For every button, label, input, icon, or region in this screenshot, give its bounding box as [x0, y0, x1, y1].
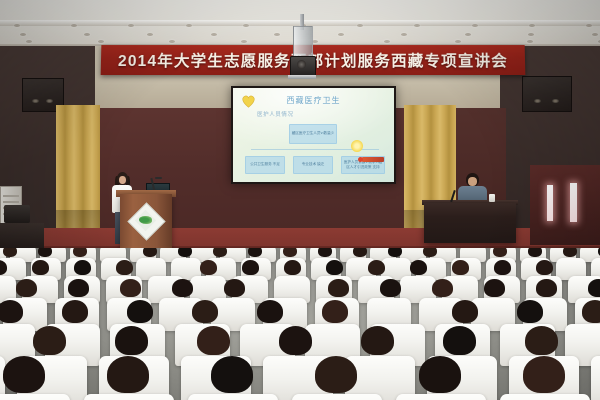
audience-person: [494, 260, 511, 275]
slide-highlight-dot: [358, 157, 363, 162]
audience-person: [38, 248, 52, 257]
audience-person: [74, 260, 91, 275]
ceiling-spotlight: [241, 40, 247, 43]
ceiling-spotlight: [169, 40, 175, 43]
audience-person: [172, 279, 193, 297]
ceiling-spotlight: [527, 40, 533, 43]
audience-person: [127, 300, 153, 323]
audience-person: [423, 248, 437, 257]
audience-person: [388, 248, 402, 257]
audience-person: [32, 260, 49, 275]
audience-person: [368, 260, 385, 275]
audience-person: [248, 248, 262, 257]
ceiling-spotlight: [592, 33, 598, 36]
audience-person: [68, 279, 89, 297]
audience-person: [120, 279, 141, 297]
slide-subtitle: 医护人员情况: [257, 110, 294, 118]
sun-icon: [351, 140, 363, 152]
ceiling-spotlight: [26, 40, 32, 43]
audience-area: [0, 248, 600, 400]
ceiling-spotlight: [529, 24, 535, 27]
audience-person: [452, 300, 478, 323]
audience-person: [107, 356, 149, 393]
audience-person: [380, 279, 401, 297]
projector-lens: [297, 60, 306, 69]
wall-light-strip-2: [570, 183, 577, 222]
audience-person: [192, 300, 218, 323]
audience-person: [284, 260, 301, 275]
audience-person: [582, 300, 600, 323]
audience-person: [322, 300, 348, 323]
audience-person: [410, 260, 427, 275]
auditorium-photo: 2014年大学生志愿服务西部计划服务西藏专项宣讲会 西藏医疗卫生 医护人员情况 …: [0, 0, 600, 400]
ceiling-spotlight: [98, 40, 104, 43]
seated-person-face: [468, 177, 477, 186]
audience-person: [3, 356, 45, 393]
projection-screen-frame: 西藏医疗卫生 医护人员情况 藏区医疗卫生人员\n数量少 公共卫生服务 不足 专业…: [231, 86, 396, 184]
slide-box-1: 公共卫生服务 不足: [245, 156, 285, 174]
audience-person: [178, 248, 192, 257]
audience-person: [517, 300, 543, 323]
ceiling-spotlight: [186, 24, 192, 27]
ceiling-spotlight: [465, 33, 471, 36]
audience-person: [419, 356, 461, 393]
audience-person: [257, 300, 283, 323]
audience-chair: [292, 394, 382, 400]
audience-person: [315, 356, 357, 393]
wall-light-strip-1: [547, 185, 553, 221]
ceiling-spotlight: [472, 24, 478, 27]
audience-person: [3, 248, 17, 257]
audience-person: [242, 260, 259, 275]
audience-person: [536, 260, 553, 275]
projection-screen: 西藏医疗卫生 医护人员情况 藏区医疗卫生人员\n数量少 公共卫生服务 不足 专业…: [233, 88, 394, 182]
ceiling-spotlight: [14, 24, 20, 27]
audience-person: [493, 248, 507, 257]
speaker-face: [119, 176, 126, 184]
slide-highlight-tag: [362, 157, 384, 162]
audience-person: [452, 260, 469, 275]
ceiling-spotlight: [586, 24, 592, 27]
audience-person: [213, 248, 227, 257]
ceiling-spotlight: [384, 40, 390, 43]
left-monitor: [4, 205, 30, 223]
left-side-desk: [0, 223, 44, 249]
green-leaf-icon: [139, 216, 152, 224]
slide-box-top: 藏区医疗卫生人员\n数量少: [289, 124, 337, 144]
ceiling-spotlight: [20, 33, 26, 36]
audience-chair: [84, 394, 174, 400]
audience-person: [200, 260, 217, 275]
audience-person: [62, 300, 88, 323]
audience-person: [563, 248, 577, 257]
ceiling-spotlight: [338, 33, 344, 36]
ceiling-spotlight: [455, 40, 461, 43]
audience-person: [361, 326, 394, 355]
slide-title: 西藏医疗卫生: [287, 95, 341, 106]
audience-person: [326, 260, 343, 275]
water-cup: [489, 194, 495, 202]
audience-person: [115, 326, 148, 355]
audience-person: [484, 279, 505, 297]
ceiling-spotlight: [84, 33, 90, 36]
audience-chair: [0, 394, 70, 400]
right-wall-speaker: [522, 76, 572, 112]
slide-box-2: 专业技术 缺乏: [293, 156, 333, 174]
audience-person: [197, 326, 230, 355]
audience-chair: [188, 394, 278, 400]
audience-person: [143, 248, 157, 257]
audience-person: [283, 248, 297, 257]
audience-person: [588, 279, 600, 297]
audience-person: [536, 279, 557, 297]
audience-person: [211, 356, 253, 393]
audience-person: [116, 260, 133, 275]
audience-person: [33, 326, 66, 355]
audience-person: [523, 356, 565, 393]
projector-base: [288, 75, 316, 79]
audience-person: [318, 248, 332, 257]
audience-person: [353, 248, 367, 257]
heart-icon: [241, 94, 256, 108]
audience-person: [443, 326, 476, 355]
ceiling-spotlight: [243, 24, 249, 27]
audience-chair: [500, 394, 590, 400]
audience-chair: [396, 394, 486, 400]
audience-person: [432, 279, 453, 297]
right-wall-recess: [530, 165, 600, 245]
audience-person: [328, 279, 349, 297]
audience-person: [525, 326, 558, 355]
ceiling-spotlight: [211, 33, 217, 36]
audience-person: [224, 279, 245, 297]
audience-chair: [591, 356, 600, 400]
podium-microphone-head: [155, 177, 162, 179]
audience-person: [16, 279, 37, 297]
audience-person: [73, 248, 87, 257]
audience-person: [528, 248, 542, 257]
head-table: [424, 203, 516, 243]
audience-person: [279, 326, 312, 355]
audience-person: [0, 300, 23, 323]
